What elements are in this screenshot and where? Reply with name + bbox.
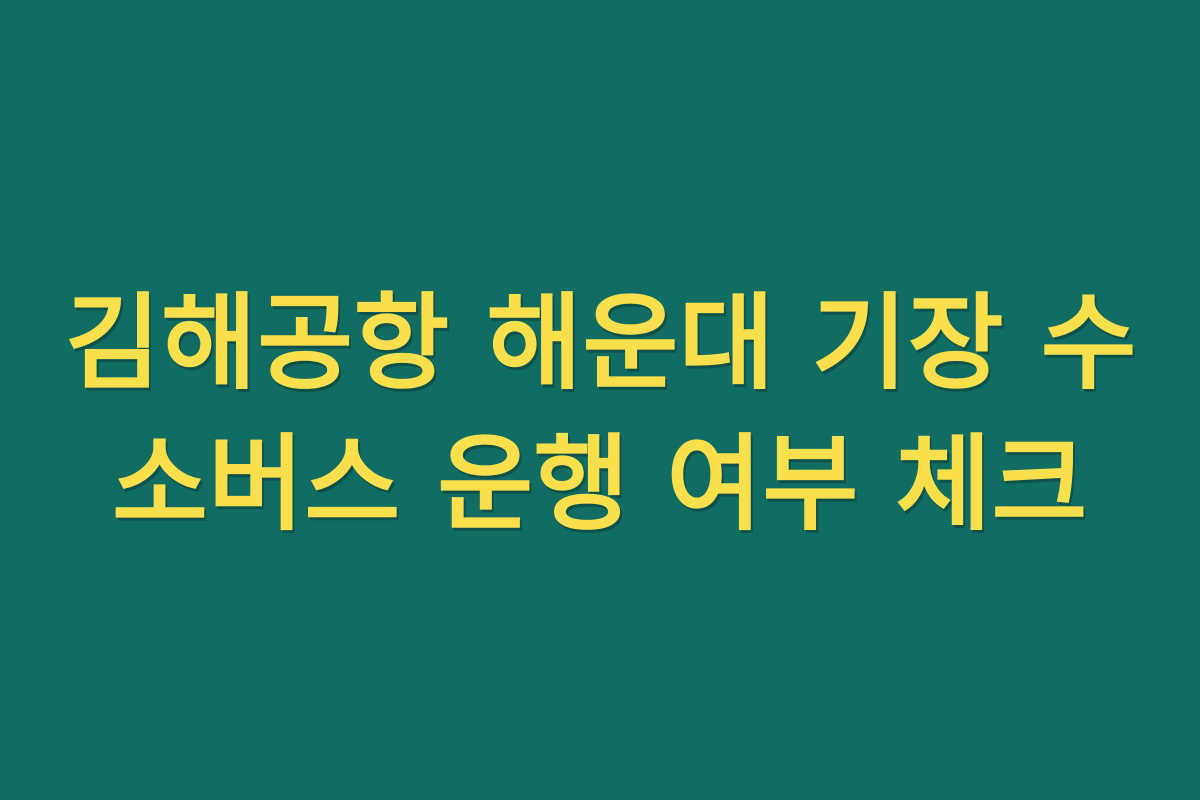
headline-text: 김해공항 해운대 기장 수 소버스 운행 여부 체크 (65, 273, 1135, 556)
headline-line-2: 소버스 운행 여부 체크 (65, 414, 1135, 555)
banner-canvas: 김해공항 해운대 기장 수 소버스 운행 여부 체크 (0, 0, 1200, 800)
headline-line-1: 김해공항 해운대 기장 수 (65, 273, 1135, 414)
